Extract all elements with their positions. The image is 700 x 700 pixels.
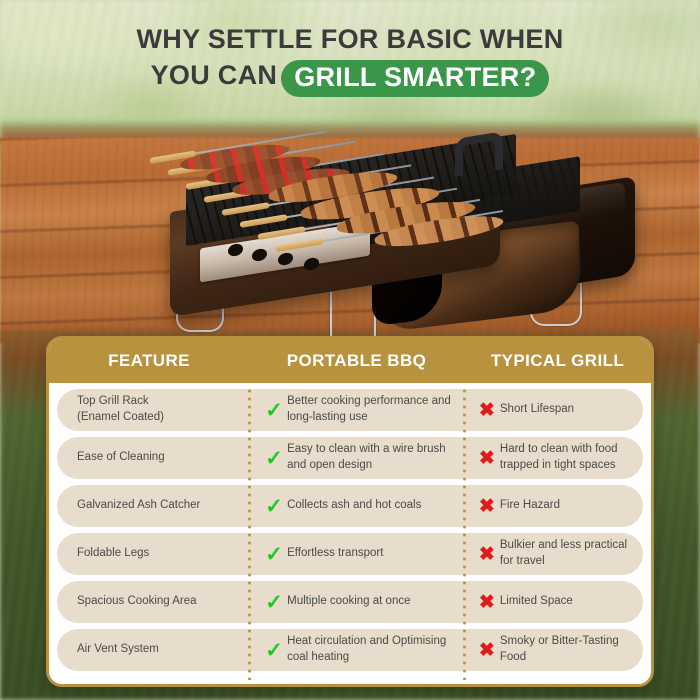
cell-feature: Foldable Legs: [57, 533, 247, 575]
cell-portable-bbq: ✓ Effortless transport: [247, 533, 460, 575]
typical-grill-description: Bulkier and less practical for travel: [500, 538, 643, 570]
column-header-feature: FEATURE: [49, 351, 249, 371]
feature-label: Galvanized Ash Catcher: [77, 498, 200, 514]
feature-label: Top Grill Rack (Enamel Coated): [77, 394, 164, 425]
comparison-table: FEATURE PORTABLE BBQ TYPICAL GRILL Top G…: [46, 336, 654, 687]
cross-icon: ✖: [474, 591, 500, 614]
table-row: Spacious Cooking Area ✓ Multiple cooking…: [57, 581, 643, 623]
portable-bbq-description: Multiple cooking at once: [287, 594, 410, 610]
typical-grill-description: Smoky or Bitter-Tasting Food: [500, 634, 643, 666]
cross-icon: ✖: [474, 495, 500, 518]
cross-icon: ✖: [474, 399, 500, 422]
feature-label-line-1: Top Grill Rack: [77, 395, 149, 407]
cross-icon: ✖: [474, 447, 500, 470]
table-row: Top Grill Rack (Enamel Coated) ✓ Better …: [57, 389, 643, 431]
check-icon: ✓: [261, 590, 287, 615]
check-icon: ✓: [261, 638, 287, 663]
cell-feature: Top Grill Rack (Enamel Coated): [57, 389, 247, 431]
typical-grill-description: Limited Space: [500, 594, 573, 610]
feature-label: Ease of Cleaning: [77, 450, 165, 466]
heading-line-2-prefix: YOU CAN: [151, 60, 278, 90]
column-header-typical-grill: TYPICAL GRILL: [464, 351, 651, 371]
promo-heading: WHY SETTLE FOR BASIC WHEN YOU CANGRILL S…: [0, 24, 700, 95]
portable-bbq-description: Better cooking performance and long-last…: [287, 394, 460, 426]
portable-bbq-description: Collects ash and hot coals: [287, 498, 421, 514]
typical-grill-description: Short Lifespan: [500, 402, 574, 418]
typical-grill-description: Hard to clean with food trapped in tight…: [500, 442, 643, 474]
feature-label: Air Vent System: [77, 642, 159, 658]
cell-portable-bbq: ✓ Easy to clean with a wire brush and op…: [247, 437, 460, 479]
cell-typical-grill: ✖ Fire Hazard: [460, 485, 643, 527]
cross-icon: ✖: [474, 639, 500, 662]
table-row: Foldable Legs ✓ Effortless transport ✖ B…: [57, 533, 643, 575]
portable-bbq-description: Easy to clean with a wire brush and open…: [287, 442, 460, 474]
heading-line-1: WHY SETTLE FOR BASIC WHEN: [0, 24, 700, 55]
typical-grill-description: Fire Hazard: [500, 498, 560, 514]
cell-typical-grill: ✖ Limited Space: [460, 581, 643, 623]
table-body: Top Grill Rack (Enamel Coated) ✓ Better …: [49, 383, 651, 684]
portable-bbq-description: Effortless transport: [287, 546, 383, 562]
check-icon: ✓: [261, 542, 287, 567]
check-icon: ✓: [261, 398, 287, 423]
cell-feature: Galvanized Ash Catcher: [57, 485, 247, 527]
cell-feature: Air Vent System: [57, 629, 247, 671]
check-icon: ✓: [261, 446, 287, 471]
table-header-row: FEATURE PORTABLE BBQ TYPICAL GRILL: [49, 339, 651, 383]
cell-feature: Ease of Cleaning: [57, 437, 247, 479]
column-header-portable-bbq: PORTABLE BBQ: [249, 351, 464, 371]
cell-portable-bbq: ✓ Heat circulation and Optimising coal h…: [247, 629, 460, 671]
heading-line-2: YOU CANGRILL SMARTER?: [0, 58, 700, 95]
cell-feature: Spacious Cooking Area: [57, 581, 247, 623]
cell-typical-grill: ✖ Smoky or Bitter-Tasting Food: [460, 629, 643, 671]
feature-label-line-2: (Enamel Coated): [77, 411, 164, 423]
feature-label: Foldable Legs: [77, 546, 149, 562]
cell-typical-grill: ✖ Bulkier and less practical for travel: [460, 533, 643, 575]
feature-label: Spacious Cooking Area: [77, 594, 197, 610]
cell-typical-grill: ✖ Short Lifespan: [460, 389, 643, 431]
table-row: Galvanized Ash Catcher ✓ Collects ash an…: [57, 485, 643, 527]
cross-icon: ✖: [474, 543, 500, 566]
heading-highlight-badge: GRILL SMARTER?: [281, 60, 549, 97]
cell-portable-bbq: ✓ Multiple cooking at once: [247, 581, 460, 623]
table-row: Ease of Cleaning ✓ Easy to clean with a …: [57, 437, 643, 479]
portable-bbq-description: Heat circulation and Optimising coal hea…: [287, 634, 460, 666]
cell-typical-grill: ✖ Hard to clean with food trapped in tig…: [460, 437, 643, 479]
grill-handle: [455, 131, 503, 177]
table-row: Air Vent System ✓ Heat circulation and O…: [57, 629, 643, 671]
check-icon: ✓: [261, 494, 287, 519]
cell-portable-bbq: ✓ Collects ash and hot coals: [247, 485, 460, 527]
cell-portable-bbq: ✓ Better cooking performance and long-la…: [247, 389, 460, 431]
